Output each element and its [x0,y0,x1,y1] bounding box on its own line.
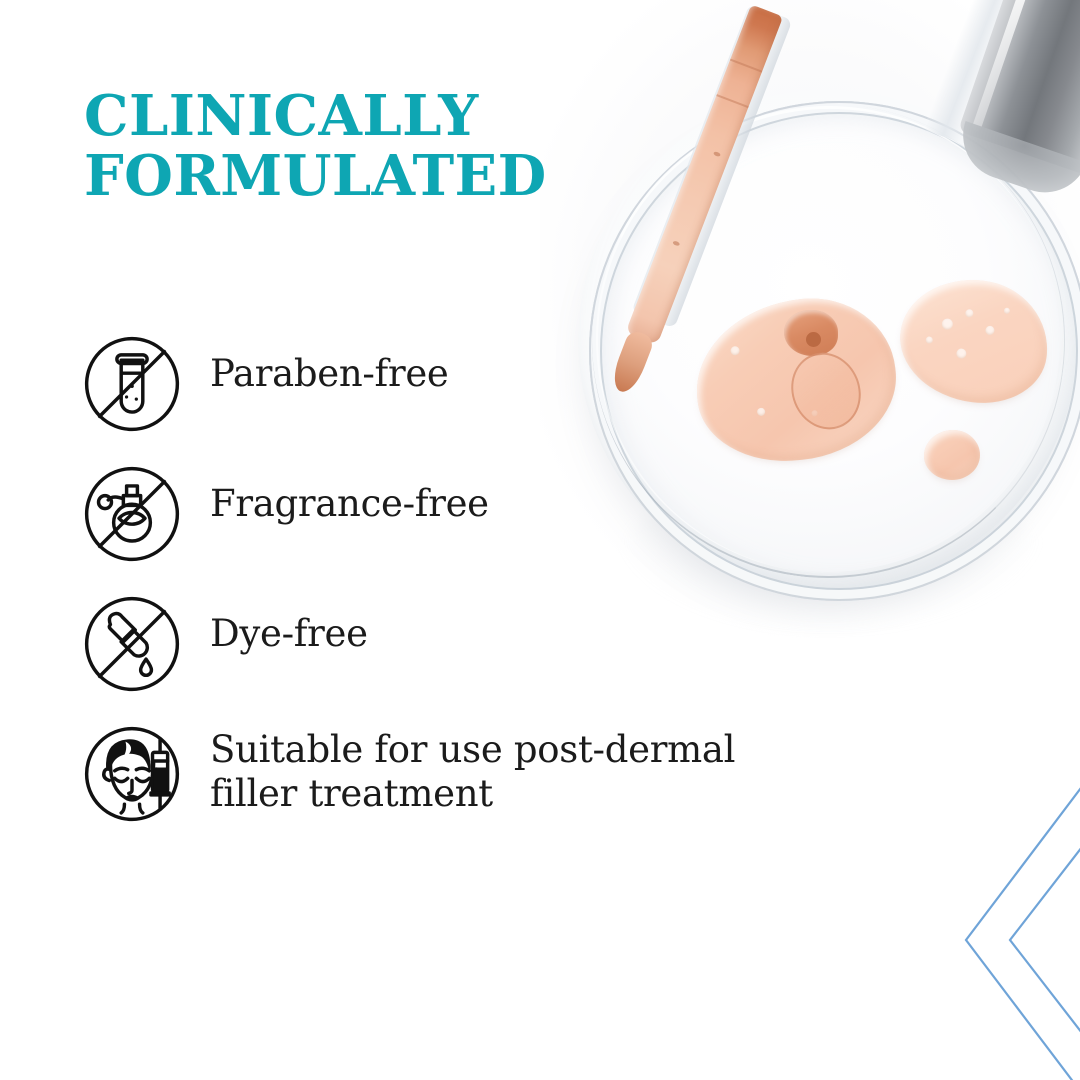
feature-list: Paraben-free Fragrance-free [78,330,818,850]
serum-blob-small [924,430,980,480]
feature-label: Suitable for use post-dermal filler trea… [210,720,818,815]
promo-canvas: CLINICALLY FORMULATED Paraben-free [0,0,1080,1080]
feature-label: Paraben-free [210,330,449,396]
serum-bubble [925,336,933,344]
chevron-inner-icon [1010,816,1080,1064]
serum-bubble [965,309,974,318]
serum-bubble [956,348,967,359]
feature-item-post-dermal-filler: Suitable for use post-dermal filler trea… [78,720,818,830]
headline-line-1: CLINICALLY [84,86,644,146]
feature-item-fragrance-free: Fragrance-free [78,460,818,570]
face-with-syringe-icon [78,720,186,828]
headline-line-2: FORMULATED [84,146,644,206]
no-dropper-icon [78,590,186,698]
feature-label: Fragrance-free [210,460,489,526]
no-perfume-bottle-icon [78,460,186,568]
no-test-tube-icon [78,330,186,438]
serum-bubble [985,325,995,335]
chevron-outer-icon [966,776,1080,1080]
feature-item-dye-free: Dye-free [78,590,818,700]
serum-bubble [941,318,953,330]
feature-item-paraben-free: Paraben-free [78,330,818,440]
page-title: CLINICALLY FORMULATED [84,86,644,207]
feature-label: Dye-free [210,590,368,656]
serum-bubble [1004,307,1011,314]
